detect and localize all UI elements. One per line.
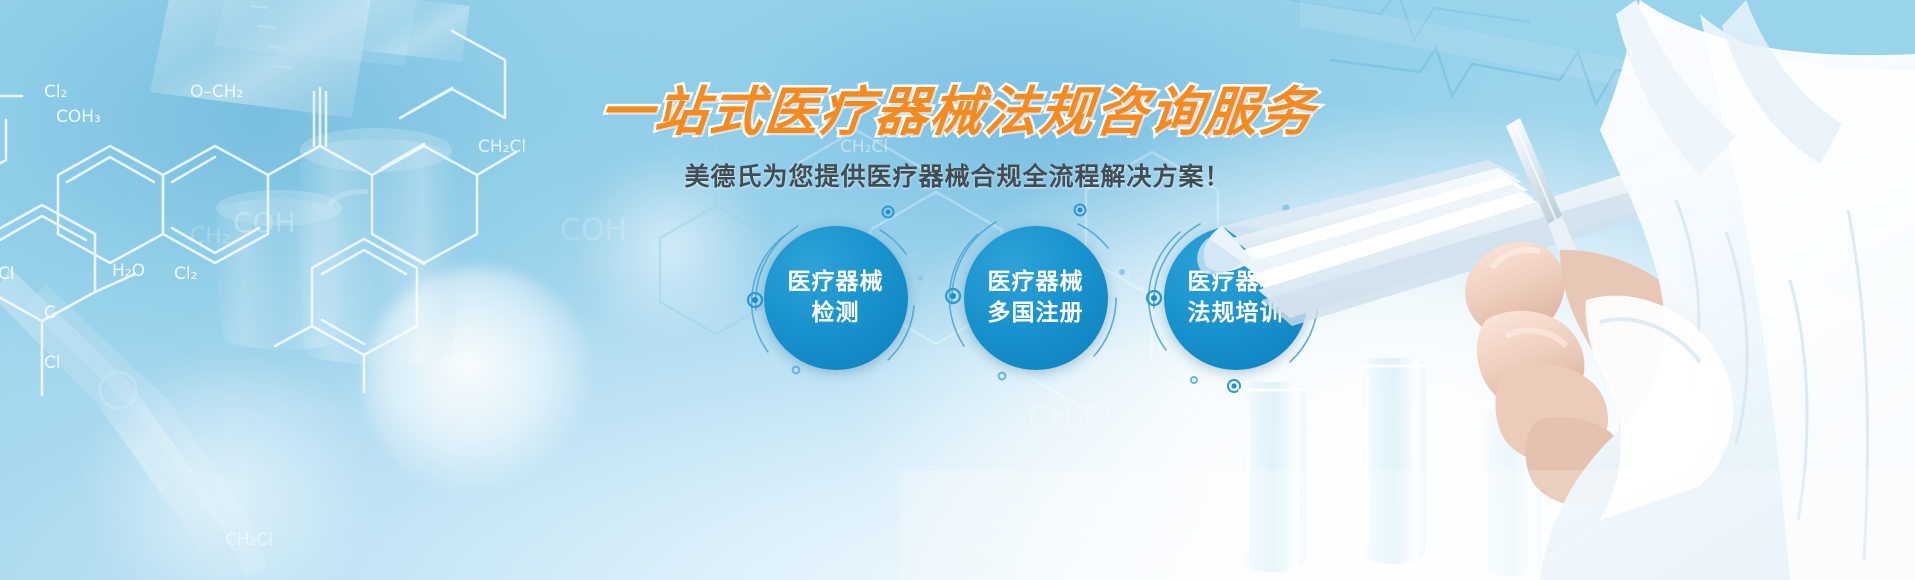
- badge-disc: 医疗器械 法规培训: [1164, 226, 1308, 370]
- ring-dot: [1119, 269, 1125, 275]
- ring-dot: [792, 367, 799, 374]
- badge-line-2: 法规培训: [1188, 300, 1284, 327]
- ring-dot: [917, 275, 923, 281]
- badge-line-1: 医疗器械: [988, 269, 1084, 296]
- badge-disc: 医疗器械 多国注册: [964, 226, 1108, 370]
- banner-title: 一站式医疗器械法规咨询服务: [597, 86, 1318, 139]
- badge-line-1: 医疗器械: [788, 269, 884, 296]
- badge-line-2: 检测: [812, 300, 860, 327]
- ring-dot: [1321, 289, 1327, 295]
- ring-dot: [1282, 204, 1289, 211]
- ring-node: [1074, 205, 1085, 216]
- banner-subtitle: 美德氏为您提供医疗器械合规全流程解决方案！: [0, 157, 1915, 193]
- service-badge-row: 医疗器械 检测: [0, 226, 1915, 370]
- ring-node: [882, 207, 893, 218]
- ring-dot: [998, 373, 1005, 380]
- badge-training[interactable]: 医疗器械 法规培训: [1164, 226, 1308, 370]
- ring-node: [1228, 380, 1240, 392]
- promo-banner: Cl₂ COH₃ O–CH₂ CH₂Cl H₂O Cl₂ Cl CH₂Cl C …: [0, 0, 1915, 580]
- badge-registration[interactable]: 医疗器械 多国注册: [964, 226, 1108, 370]
- headline-block: 一站式医疗器械法规咨询服务 美德氏为您提供医疗器械合规全流程解决方案！: [0, 86, 1915, 193]
- badge-testing[interactable]: 医疗器械 检测: [764, 226, 908, 370]
- badge-line-2: 多国注册: [988, 300, 1084, 327]
- badge-disc: 医疗器械 检测: [764, 226, 908, 370]
- ring-dot: [1191, 377, 1197, 383]
- badge-line-1: 医疗器械: [1188, 269, 1284, 296]
